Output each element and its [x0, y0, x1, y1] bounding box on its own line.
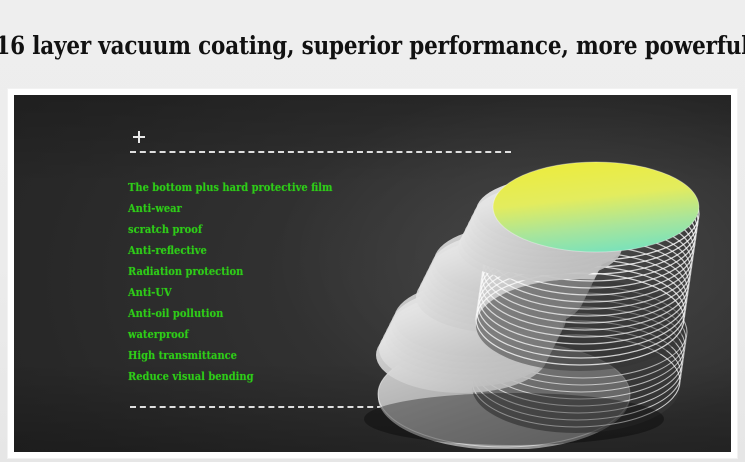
plus-marker-icon [133, 131, 145, 143]
top-coated-lens [493, 162, 699, 252]
list-item: Anti-UV [128, 282, 362, 303]
list-item: Anti-oil pollution [128, 303, 362, 324]
illustration-panel: The bottom plus hard protective film Ant… [14, 95, 731, 452]
list-item: waterproof [128, 324, 362, 345]
list-item: The bottom plus hard protective film [128, 177, 362, 198]
list-item: Reduce visual bending [128, 366, 362, 387]
banner-header: 16 layer vacuum coating, superior perfor… [0, 0, 745, 90]
list-item: scratch proof [128, 219, 362, 240]
product-feature-banner: 16 layer vacuum coating, superior perfor… [0, 0, 745, 462]
list-item: Radiation protection [128, 261, 362, 282]
illustration-frame: The bottom plus hard protective film Ant… [8, 89, 737, 458]
page-title: 16 layer vacuum coating, superior perfor… [0, 33, 745, 58]
list-item: Anti-wear [128, 198, 362, 219]
list-item: Anti-reflective [128, 240, 362, 261]
stacked-lens-illustration [344, 119, 724, 449]
stack-shadow [364, 393, 664, 445]
lens-stack-svg [344, 119, 724, 449]
list-item: High transmittance [128, 345, 362, 366]
